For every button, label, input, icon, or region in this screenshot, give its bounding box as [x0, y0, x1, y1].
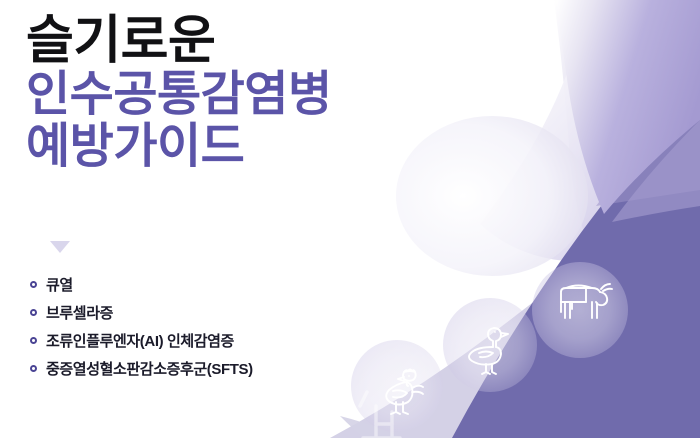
- duck-icon-group: [443, 298, 537, 392]
- ring-bullet-icon: [30, 281, 37, 288]
- list-item: 중증열성혈소판감소증후군(SFTS): [30, 356, 253, 381]
- list-item-label: 조류인플루엔자(AI) 인체감염증: [46, 330, 234, 351]
- ring-bullet-icon: [30, 337, 37, 344]
- title-line-2: 인수공통감염병: [26, 70, 332, 120]
- cow-halo-inner: [532, 262, 628, 358]
- chicken-icon-group: [351, 340, 443, 432]
- chicken-halo-inner: [351, 340, 443, 432]
- ring-bullet-icon: [30, 309, 37, 316]
- poster-title: 슬기로운 인수공통감염병 예방가이드: [26, 14, 332, 172]
- duck-halo-inner: [443, 298, 537, 392]
- triangle-down-icon: [50, 241, 70, 253]
- poster-canvas: 슬기로운 인수공통감염병 예방가이드 큐열 브루셀라증 조류인플루엔자(AI) …: [0, 0, 700, 438]
- blob-soft-fade: [396, 116, 588, 276]
- list-item: 브루셀라증: [30, 300, 253, 325]
- title-line-3: 예방가이드: [26, 122, 332, 172]
- list-item-label: 큐열: [46, 274, 73, 295]
- list-item-label: 중증열성혈소판감소증후군(SFTS): [46, 358, 253, 379]
- disease-list: 큐열 브루셀라증 조류인플루엔자(AI) 인체감염증 중증열성혈소판감소증후군(…: [30, 272, 253, 384]
- list-item-label: 브루셀라증: [46, 302, 113, 323]
- ring-bullet-icon: [30, 365, 37, 372]
- list-item: 조류인플루엔자(AI) 인체감염증: [30, 328, 253, 353]
- title-line-1: 슬기로운: [26, 14, 332, 68]
- list-item: 큐열: [30, 272, 253, 297]
- cow-icon-group: [532, 262, 628, 358]
